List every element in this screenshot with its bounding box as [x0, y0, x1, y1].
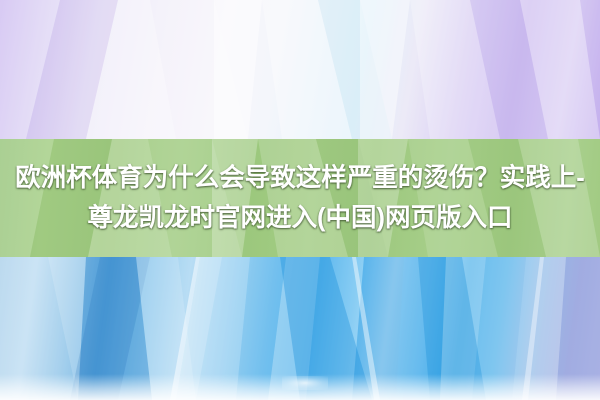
banner-image: 欧洲杯体育为什么会导致这样严重的烫伤？实践上- 尊龙凯龙时官网进入(中国)网页版…	[0, 0, 600, 400]
banner-title: 欧洲杯体育为什么会导致这样严重的烫伤？实践上- 尊龙凯龙时官网进入(中国)网页版…	[0, 139, 600, 257]
top-facet-svg	[0, 0, 600, 139]
top-gradient-band	[0, 0, 600, 139]
bottom-gradient-band	[0, 257, 600, 400]
banner-title-line-2: 尊龙凯龙时官网进入(中国)网页版入口	[88, 198, 513, 238]
bottom-facet-svg	[0, 257, 600, 400]
top-facet-pattern	[0, 0, 600, 139]
bottom-facet-pattern	[0, 257, 600, 400]
banner-title-line-1: 欧洲杯体育为什么会导致这样严重的烫伤？实践上-	[15, 158, 585, 198]
